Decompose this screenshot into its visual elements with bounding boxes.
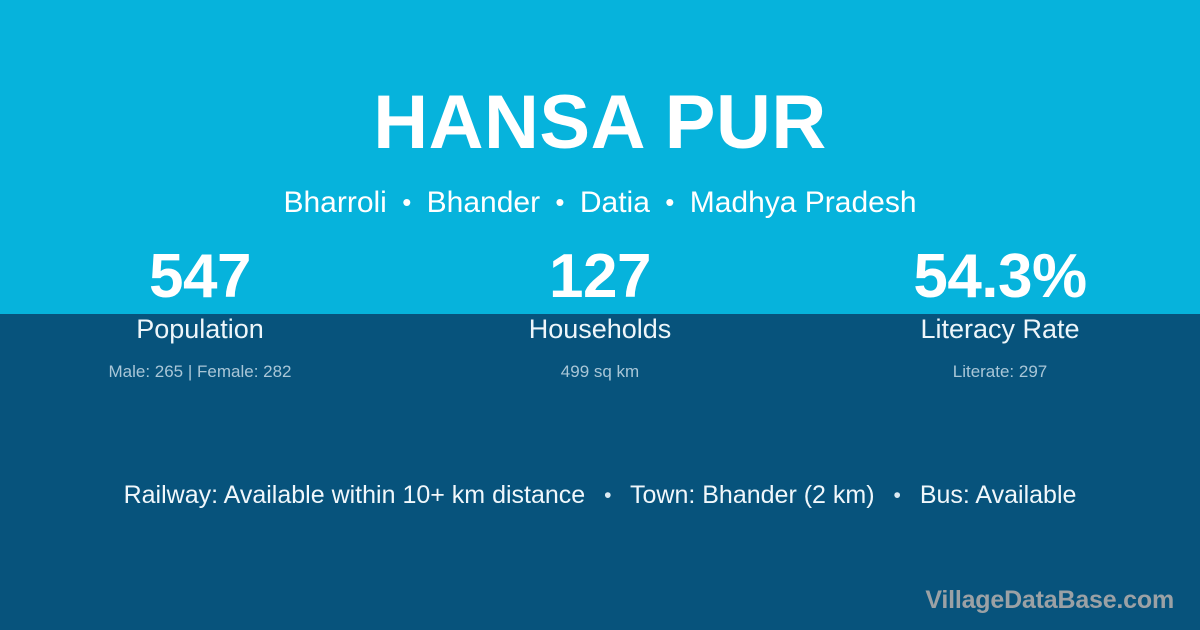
page-title: HANSA PUR — [0, 0, 1200, 161]
breadcrumb: Bharroli • Bhander • Datia • Madhya Prad… — [0, 161, 1200, 218]
bullet-separator-icon: • — [658, 187, 681, 217]
facility-bus: Bus: Available — [920, 481, 1077, 509]
breadcrumb-item-1: Bhander — [427, 186, 540, 219]
stat-population: 547 Population Male: 265 | Female: 282 — [0, 246, 400, 380]
stat-literacy-rate: 54.3% Literacy Rate Literate: 297 — [800, 246, 1200, 380]
stats-row: 547 Population Male: 265 | Female: 282 1… — [0, 246, 1200, 380]
bullet-separator-icon: • — [592, 484, 623, 507]
bullet-separator-icon: • — [395, 187, 418, 217]
stat-label: Population — [0, 312, 400, 343]
stat-subtext: Male: 265 | Female: 282 — [0, 343, 400, 380]
bullet-separator-icon: • — [548, 187, 571, 217]
facility-town: Town: Bhander (2 km) — [630, 481, 875, 509]
breadcrumb-item-2: Datia — [580, 186, 650, 219]
facilities-line: Railway: Available within 10+ km distanc… — [0, 483, 1200, 508]
stat-subtext: 499 sq km — [400, 343, 800, 380]
breadcrumb-item-0: Bharroli — [283, 186, 386, 219]
village-info-card: HANSA PUR Bharroli • Bhander • Datia • M… — [0, 0, 1200, 630]
stat-value: 547 — [0, 246, 400, 312]
facility-railway: Railway: Available within 10+ km distanc… — [124, 481, 586, 509]
stat-households: 127 Households 499 sq km — [400, 246, 800, 380]
site-watermark: VillageDataBase.com — [925, 588, 1174, 613]
stat-label: Households — [400, 312, 800, 343]
stat-subtext: Literate: 297 — [800, 343, 1200, 380]
bullet-separator-icon: • — [882, 484, 913, 507]
stat-value: 127 — [400, 246, 800, 312]
breadcrumb-item-3: Madhya Pradesh — [690, 186, 917, 219]
stat-value: 54.3% — [800, 246, 1200, 312]
card-header: HANSA PUR Bharroli • Bhander • Datia • M… — [0, 0, 1200, 218]
stat-label: Literacy Rate — [800, 312, 1200, 343]
